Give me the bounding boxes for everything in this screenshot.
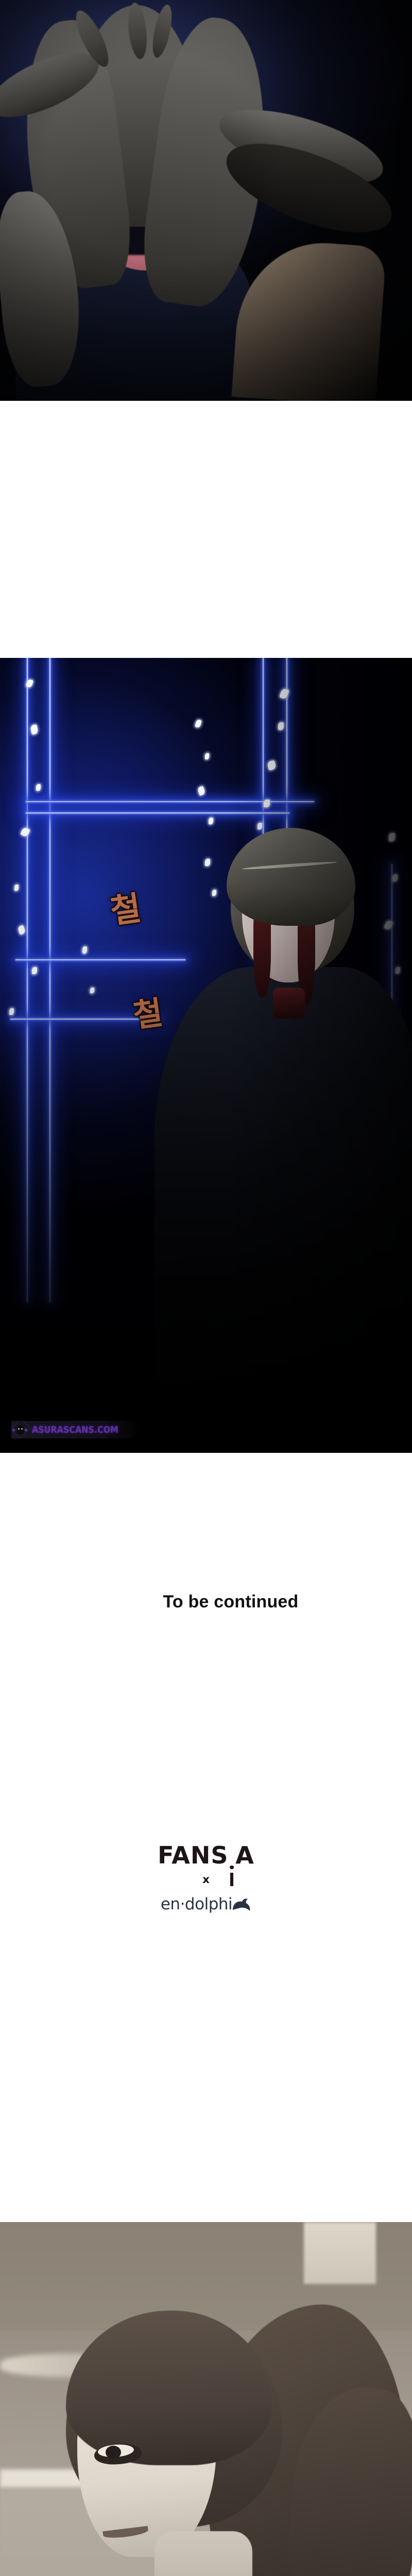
hooded-figure-diamond-icon xyxy=(11,1421,29,1438)
endolphin-wordmark: en·dolphi xyxy=(161,1896,232,1912)
endolphin-logo: en·dolphi xyxy=(161,1896,251,1912)
panel-3-sepia-ponytail-girl xyxy=(0,2222,412,2576)
character-bangs xyxy=(66,2311,272,2465)
asurascans-watermark: ASURASCANS.COM xyxy=(11,1421,142,1438)
character-neck xyxy=(154,2531,252,2576)
fansia-logo: FANSA xyxy=(0,1843,412,1867)
panel-2-blue-grid-bleeding-boy: 철 철 ASURASCANS.COM xyxy=(0,658,412,1453)
to-be-continued-text: To be continued xyxy=(0,1592,412,1612)
panel-1-vignette xyxy=(0,0,412,401)
brand-block: FANSA x en·dolphi xyxy=(0,1843,412,1912)
brand-separator: x xyxy=(0,1874,412,1885)
panel-1-long-haired-figure xyxy=(0,0,412,401)
watermark-text: ASURASCANS.COM xyxy=(32,1425,118,1435)
panel-2-vignette xyxy=(0,658,412,1453)
dolphin-icon xyxy=(231,1897,251,1912)
background-light-panel xyxy=(304,2222,376,2284)
webtoon-page: 철 철 ASURASCANS.COM To be continued FANSA… xyxy=(0,0,412,2576)
character-pupil xyxy=(106,2446,121,2459)
